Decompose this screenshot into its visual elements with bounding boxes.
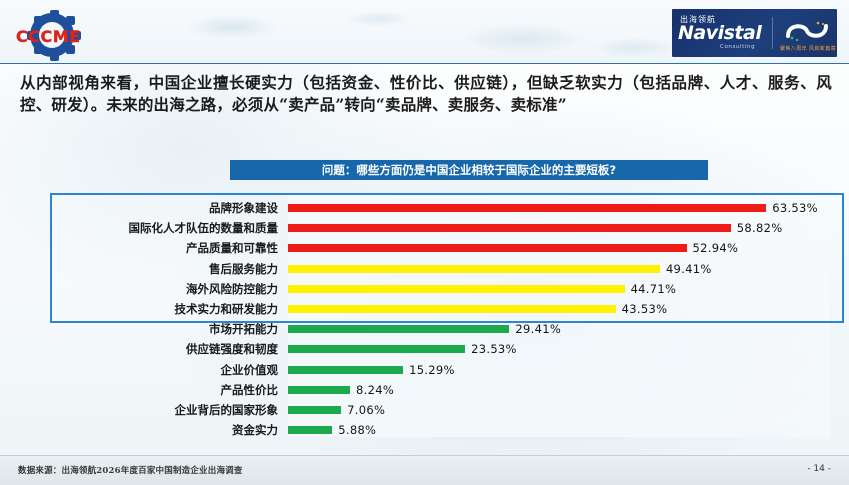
bar-category-label: 资金实力 (22, 422, 288, 438)
bar-row: 国际化人才队伍的数量和质量58.82% (22, 218, 827, 238)
bar-category-label: 技术实力和研发能力 (22, 301, 288, 317)
bar-value-label: 63.53% (772, 201, 818, 215)
bar-value-label: 7.06% (347, 403, 385, 417)
lead-paragraph: 从内部视角来看，中国企业擅长硬实力（包括资金、性价比、供应链），但缺乏软实力（包… (20, 72, 832, 116)
bar-row: 售后服务能力49.41% (22, 259, 827, 279)
bar-segment (288, 285, 625, 293)
bar-track: 58.82% (288, 218, 827, 238)
navistal-logo-sub: Consulting (720, 44, 755, 50)
bar-row: 市场开拓能力29.41% (22, 319, 827, 339)
bar-value-label: 52.94% (693, 241, 739, 255)
question-banner-label: 问题：哪些方面仍是中国企业相较于国际企业的主要短板? (322, 162, 616, 178)
logo-divider (772, 17, 773, 49)
bar-track: 8.24% (288, 380, 827, 400)
navistal-logo-tagline: 聚焦八周年 风启新篇章 (780, 45, 836, 52)
bar-track: 44.71% (288, 279, 827, 299)
bar-value-label: 58.82% (737, 221, 783, 235)
bar-category-label: 供应链强度和韧度 (22, 341, 288, 357)
bar-category-label: 国际化人才队伍的数量和质量 (22, 220, 288, 236)
bar-value-label: 49.41% (666, 262, 712, 276)
bar-category-label: 产品质量和可靠性 (22, 240, 288, 256)
slide-header: CCCME 出海领航 Navistal Consulting 聚焦八周年 风启新… (0, 0, 849, 64)
bar-track: 15.29% (288, 360, 827, 380)
navistal-logo: 出海领航 Navistal Consulting 聚焦八周年 风启新篇章 (672, 9, 837, 57)
bar-track: 63.53% (288, 198, 827, 218)
bar-segment (288, 224, 731, 232)
bar-segment (288, 386, 350, 394)
bar-row: 技术实力和研发能力43.53% (22, 299, 827, 319)
bar-value-label: 5.88% (338, 423, 376, 437)
bar-track: 5.88% (288, 420, 827, 440)
bar-value-label: 29.41% (515, 322, 561, 336)
question-banner: 问题：哪些方面仍是中国企业相较于国际企业的主要短板? (230, 160, 708, 180)
bar-chart: 品牌形象建设63.53%国际化人才队伍的数量和质量58.82%产品质量和可靠性5… (22, 190, 827, 440)
bar-segment (288, 305, 616, 313)
bar-track: 43.53% (288, 299, 827, 319)
bar-track: 7.06% (288, 400, 827, 420)
bar-value-label: 15.29% (409, 363, 455, 377)
bar-segment (288, 366, 403, 374)
bar-row: 产品质量和可靠性52.94% (22, 238, 827, 258)
bar-track: 23.53% (288, 339, 827, 359)
bar-value-label: 23.53% (471, 342, 517, 356)
bar-track: 29.41% (288, 319, 827, 339)
bar-value-label: 44.71% (631, 282, 677, 296)
header-divider (0, 63, 849, 64)
bar-segment (288, 244, 687, 252)
bar-category-label: 售后服务能力 (22, 261, 288, 277)
footer-divider (0, 455, 849, 456)
bar-category-label: 企业价值观 (22, 362, 288, 378)
page-number: - 14 - (807, 464, 831, 474)
slide: CCCME 出海领航 Navistal Consulting 聚焦八周年 风启新… (0, 0, 849, 485)
bar-track: 52.94% (288, 238, 827, 258)
bar-segment (288, 426, 332, 434)
bar-row: 品牌形象建设63.53% (22, 198, 827, 218)
bar-track: 49.41% (288, 259, 827, 279)
bar-row: 供应链强度和韧度23.53% (22, 339, 827, 359)
cccme-logo: CCCME (14, 12, 114, 58)
bar-row: 资金实力5.88% (22, 420, 827, 440)
bar-segment (288, 325, 509, 333)
bar-row: 产品性价比8.24% (22, 380, 827, 400)
world-map-watermark (120, 4, 680, 62)
bar-segment (288, 204, 766, 212)
bar-segment (288, 265, 660, 273)
bar-row: 企业背后的国家形象7.06% (22, 400, 827, 420)
bar-category-label: 海外风险防控能力 (22, 281, 288, 297)
bar-value-label: 43.53% (622, 302, 668, 316)
infinity-wave-icon (784, 18, 830, 44)
navistal-logo-main: Navistal (678, 22, 761, 44)
data-source-note: 数据来源：出海领航2026年度百家中国制造企业出海调查 (18, 464, 243, 476)
bar-category-label: 品牌形象建设 (22, 200, 288, 216)
bar-category-label: 产品性价比 (22, 382, 288, 398)
bar-category-label: 市场开拓能力 (22, 321, 288, 337)
bar-value-label: 8.24% (356, 383, 394, 397)
bar-row: 企业价值观15.29% (22, 360, 827, 380)
bar-segment (288, 345, 465, 353)
cccme-logo-text: CCCME (16, 27, 81, 46)
bar-category-label: 企业背后的国家形象 (22, 402, 288, 418)
bar-segment (288, 406, 341, 414)
slide-footer: 数据来源：出海领航2026年度百家中国制造企业出海调查 - 14 - (0, 455, 849, 485)
bar-row: 海外风险防控能力44.71% (22, 279, 827, 299)
